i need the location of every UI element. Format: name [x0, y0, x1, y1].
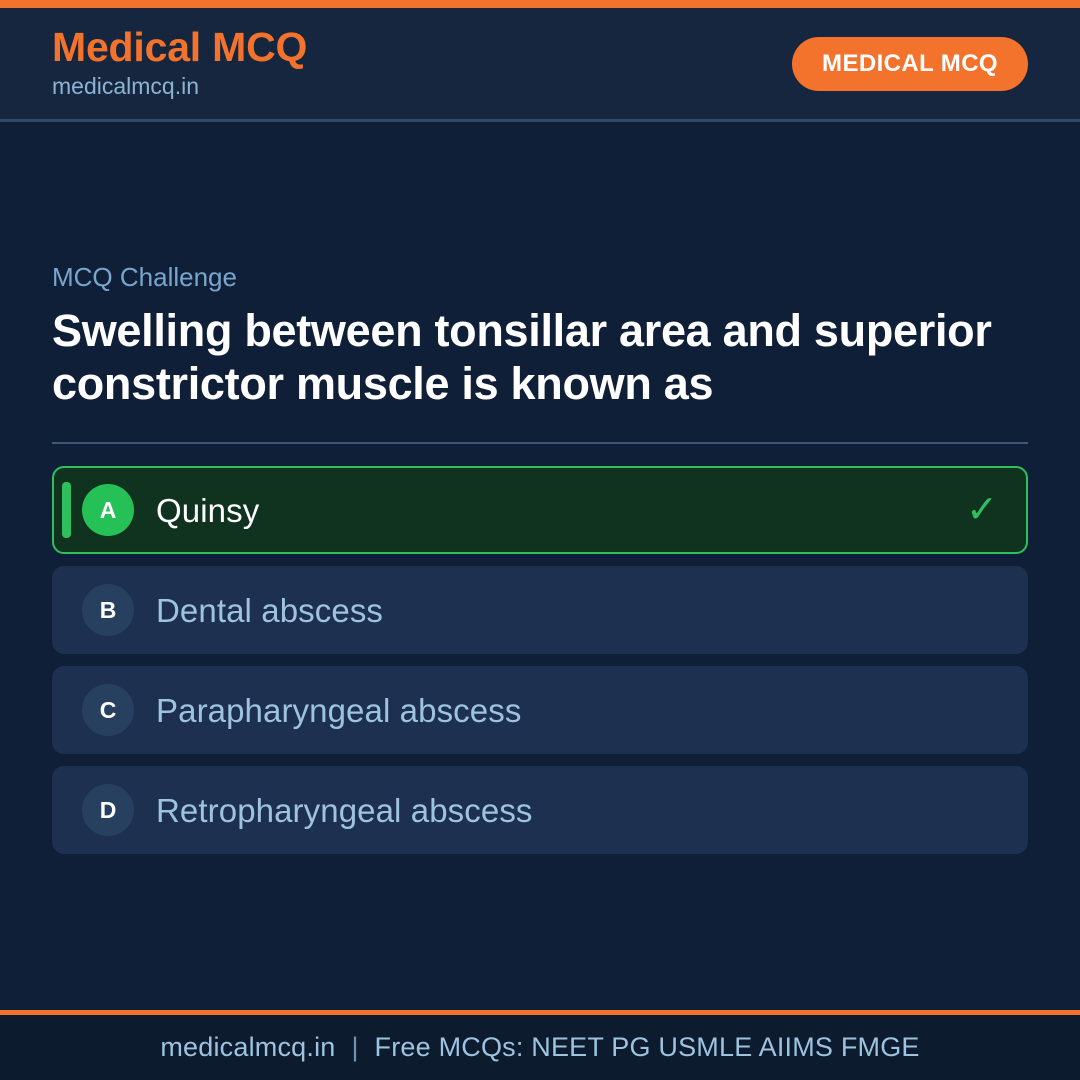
question-divider: [52, 442, 1028, 444]
option-d[interactable]: D Retropharyngeal abscess ✓: [52, 766, 1028, 854]
page-header: Medical MCQ medicalmcq.in MEDICAL MCQ: [0, 8, 1080, 122]
option-letter-badge: C: [82, 684, 134, 736]
mcq-card: Medical MCQ medicalmcq.in MEDICAL MCQ MC…: [0, 0, 1080, 1080]
correct-accent-bar: [62, 482, 71, 538]
option-letter-badge: B: [82, 584, 134, 636]
option-label: Retropharyngeal abscess: [156, 791, 533, 831]
header-badge: MEDICAL MCQ: [792, 37, 1028, 91]
main-content: MCQ Challenge Swelling between tonsillar…: [0, 122, 1080, 1010]
footer-links: Free MCQs: NEET PG USMLE AIIMS FMGE: [375, 1032, 920, 1063]
footer-site: medicalmcq.in: [160, 1032, 335, 1063]
option-a[interactable]: A Quinsy ✓: [52, 466, 1028, 554]
option-c[interactable]: C Parapharyngeal abscess ✓: [52, 666, 1028, 754]
options-list: A Quinsy ✓ B Dental abscess ✓ C Paraphar…: [52, 466, 1028, 854]
page-footer: medicalmcq.in | Free MCQs: NEET PG USMLE…: [0, 1010, 1080, 1080]
option-letter-badge: D: [82, 784, 134, 836]
check-icon: ✓: [966, 491, 998, 529]
option-letter-badge: A: [82, 484, 134, 536]
option-label: Quinsy: [156, 491, 259, 531]
question-eyebrow: MCQ Challenge: [52, 262, 1028, 293]
footer-separator: |: [336, 1032, 375, 1063]
brand: Medical MCQ medicalmcq.in: [52, 25, 307, 102]
brand-subtitle: medicalmcq.in: [52, 71, 307, 102]
option-b[interactable]: B Dental abscess ✓: [52, 566, 1028, 654]
question-block: MCQ Challenge Swelling between tonsillar…: [52, 262, 1028, 410]
option-label: Parapharyngeal abscess: [156, 691, 521, 731]
brand-title: Medical MCQ: [52, 25, 307, 69]
option-label: Dental abscess: [156, 591, 383, 631]
question-text: Swelling between tonsillar area and supe…: [52, 305, 1028, 410]
top-accent-bar: [0, 0, 1080, 8]
